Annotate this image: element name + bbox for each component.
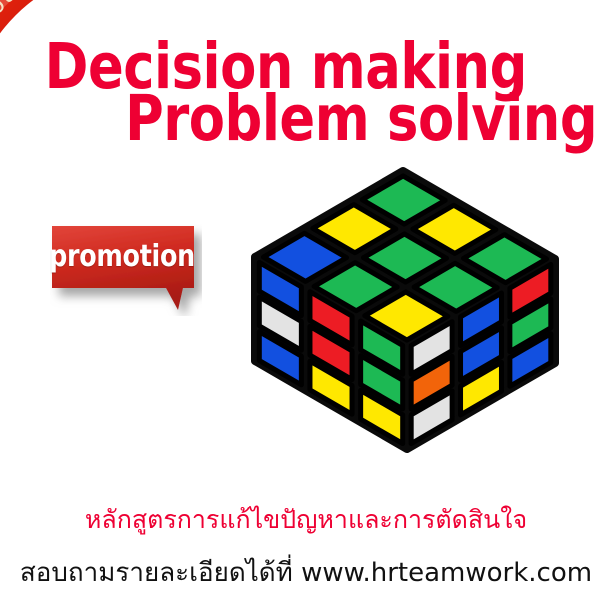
rubiks-cube bbox=[228, 163, 584, 507]
contact-line-thai: สอบถามรายละเอียดได้ที่ www.hrteamwork.co… bbox=[0, 552, 612, 593]
course-title-thai: หลักสูตรการแก้ไขปัญหาและการตัดสินใจ bbox=[0, 500, 612, 540]
headline-block: Decision making Problem solving bbox=[0, 38, 612, 148]
promotion-badge: promotion bbox=[50, 224, 202, 316]
headline-line-2: Problem solving bbox=[43, 90, 612, 149]
promotion-badge-label: promotion bbox=[54, 224, 189, 288]
promotional-poster: promotion Decision making Problem solvin… bbox=[0, 0, 612, 612]
